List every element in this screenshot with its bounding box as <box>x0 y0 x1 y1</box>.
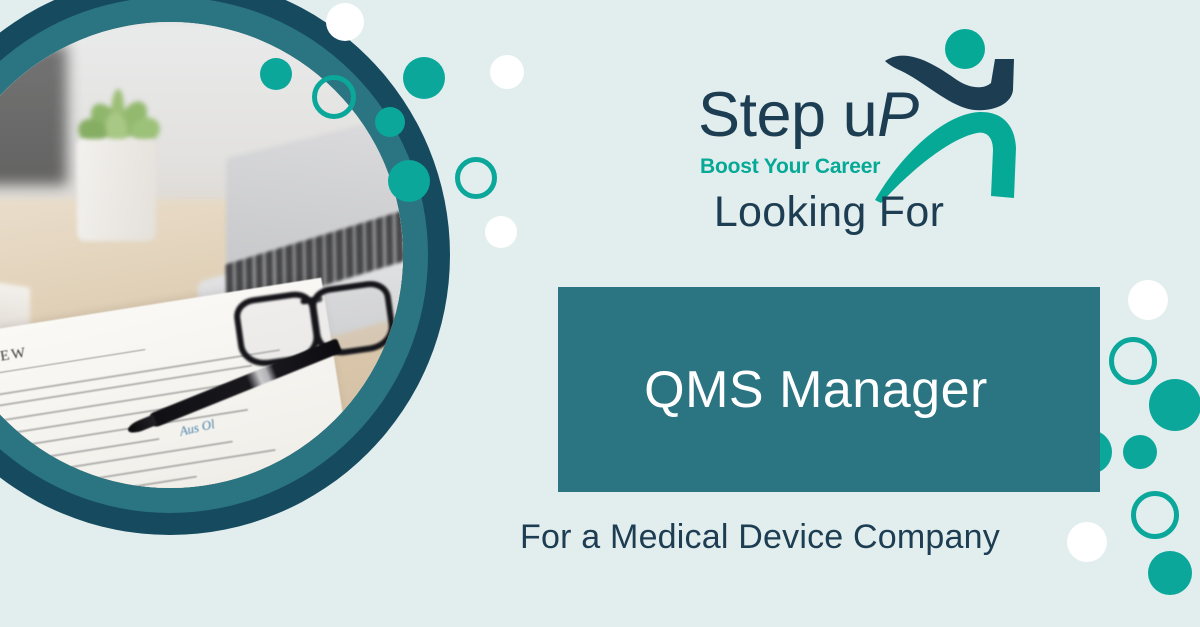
white-dot-top-right-icon <box>490 55 524 89</box>
logo-tagline: Boost Your Career <box>700 155 880 179</box>
teal-dot-right-big-icon <box>1149 379 1200 431</box>
teal-ring-right-b-icon <box>1131 491 1179 539</box>
circular-photo-frame: ATY CONTROL REVIEW Aus Ol <box>0 0 450 535</box>
teal-dot-mid-icon <box>375 107 405 137</box>
white-dot-right-top-icon <box>1128 280 1168 320</box>
photo-plant-pot <box>77 139 156 242</box>
teal-dot-mid-left-icon <box>388 160 430 202</box>
logo-word-main: Step u <box>698 80 877 150</box>
job-posting-banner: ATY CONTROL REVIEW Aus Ol <box>0 0 1200 627</box>
white-dot-mid-right-icon <box>485 216 517 248</box>
teal-dot-right-small-icon <box>1123 435 1157 469</box>
brand-logo: Step uP Boost Your Career <box>688 28 1048 188</box>
white-dot-top-icon <box>326 3 364 41</box>
page-title: Looking For <box>558 188 1100 237</box>
role-banner: QMS Manager <box>558 287 1100 492</box>
page-subtitle: For a Medical Device Company <box>440 518 1080 557</box>
teal-dot-bottom-icon <box>1148 551 1192 595</box>
teal-ring-upper-left-icon <box>312 75 356 119</box>
running-person-icon <box>873 28 1053 203</box>
teal-ring-mid-icon <box>455 157 497 199</box>
teal-ring-right-a-icon <box>1109 337 1157 385</box>
teal-dot-upper-left-icon <box>260 58 292 90</box>
teal-dot-top-mid-icon <box>403 57 445 99</box>
role-title: QMS Manager <box>558 287 1100 492</box>
photo-monitor <box>0 45 67 185</box>
